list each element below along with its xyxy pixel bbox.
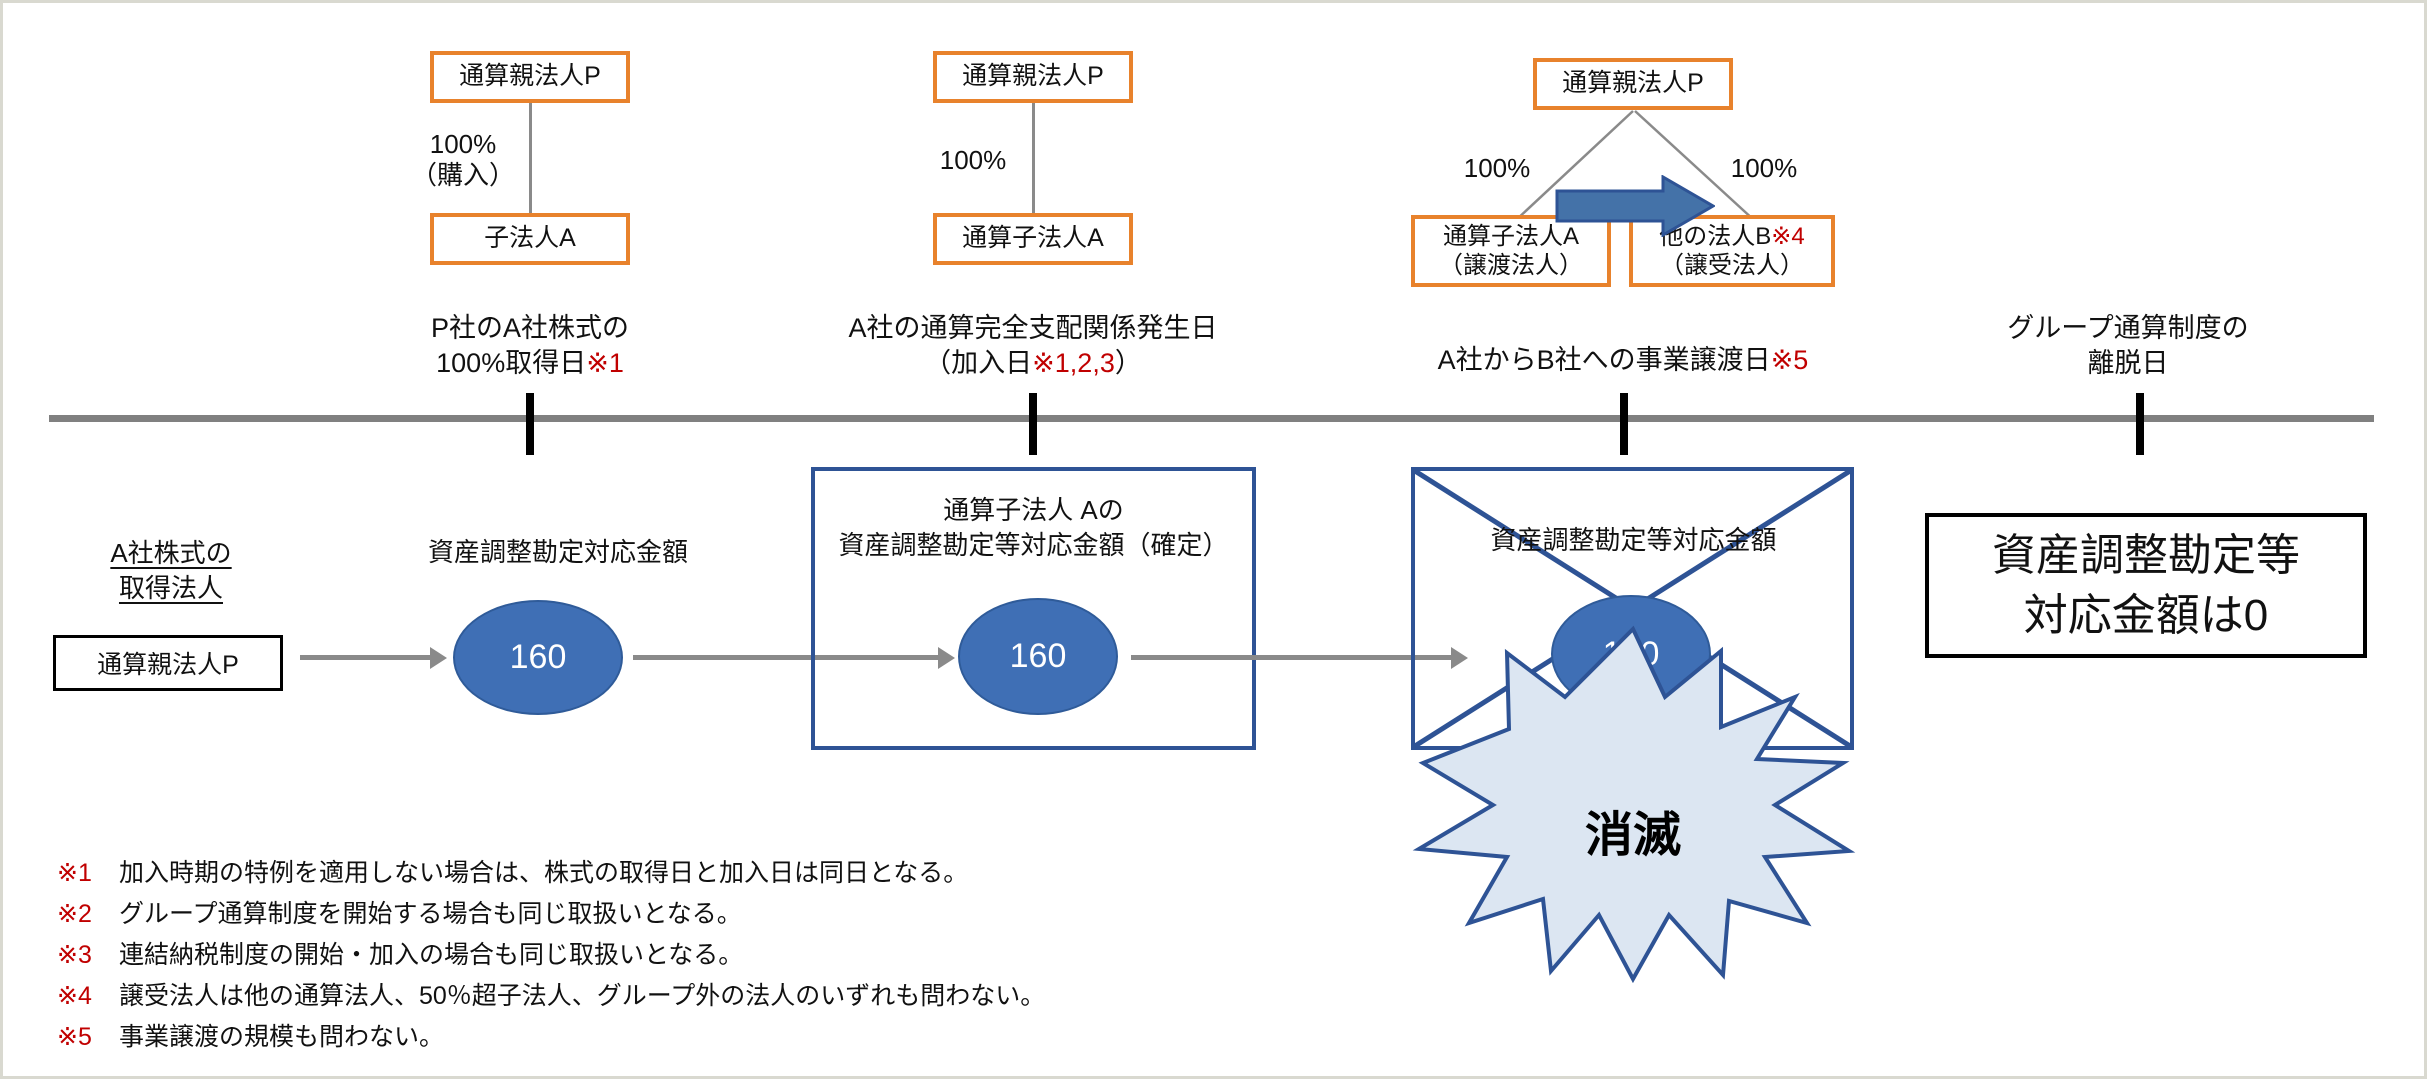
business-transfer-arrow-icon	[1555, 175, 1715, 237]
org-box-child-1-label: 子法人A	[484, 223, 576, 254]
footnote-mark: ※1	[57, 861, 119, 886]
ownership-pct-2-value: 100%	[940, 145, 1007, 175]
stage2-value: 160	[1010, 637, 1067, 676]
stage2-caption-line2: 資産調整勘定等対応金額（確定）	[815, 528, 1252, 563]
timeline-label-1: P社のA社株式の 100%取得日※1	[355, 311, 705, 381]
timeline-label-4: グループ通算制度の 離脱日	[1978, 311, 2278, 381]
org-box-child-3-left-line2: （譲渡法人）	[1439, 251, 1583, 280]
footnote-row: ※5 事業譲渡の規模も問わない。	[57, 1025, 1757, 1050]
org-box-parent-1: 通算親法人P	[430, 51, 630, 103]
timeline-label-2-note: ※1,2,3	[1032, 348, 1115, 378]
footnote-mark: ※2	[57, 902, 119, 927]
timeline-axis	[49, 415, 2374, 422]
flow-arrow-1	[300, 655, 430, 660]
acquirer-box: 通算親法人P	[53, 635, 283, 691]
timeline-label-4-line2: 離脱日	[1978, 346, 2278, 381]
acquirer-caption-line2: 取得法人	[61, 571, 281, 606]
footnote-mark: ※4	[57, 984, 119, 1009]
acquirer-caption: A社株式の 取得法人	[61, 536, 281, 606]
org-box-parent-3-label: 通算親法人P	[1562, 68, 1704, 99]
org-box-child-3-right-note: ※4	[1771, 223, 1804, 250]
stage1-caption-text: 資産調整勘定対応金額	[428, 537, 688, 567]
timeline-label-2-tail: ）	[1115, 348, 1142, 378]
stage3-burst-label: 消滅	[1403, 795, 1863, 865]
acquirer-box-label: 通算親法人P	[97, 645, 239, 681]
timeline-label-2-line2: （加入日※1,2,3）	[808, 346, 1258, 381]
footnote-mark: ※5	[57, 1025, 119, 1050]
timeline-tick-4	[2136, 393, 2144, 455]
stage1-caption: 資産調整勘定対応金額	[388, 535, 728, 570]
stage3-caption: 資産調整勘定等対応金額	[1415, 523, 1852, 558]
stage2-ellipse: 160	[958, 598, 1118, 715]
timeline-tick-3	[1620, 393, 1628, 455]
stage4-box: 資産調整勘定等 対応金額は0	[1925, 513, 2367, 658]
stage3-burst: 消滅	[1403, 623, 1863, 983]
footnote-text: グループ通算制度を開始する場合も同じ取扱いとなる。	[119, 902, 742, 927]
timeline-tick-2	[1029, 393, 1037, 455]
stage1-value: 160	[510, 638, 567, 677]
org-box-parent-2-label: 通算親法人P	[962, 61, 1104, 92]
timeline-label-1-main: 100%取得日	[436, 348, 586, 378]
ownership-line-1	[529, 103, 532, 213]
footnote-text: 加入時期の特例を適用しない場合は、株式の取得日と加入日は同日となる。	[119, 861, 968, 886]
timeline-label-1-line1: P社のA社株式の	[355, 311, 705, 346]
org-box-child-2-label: 通算子法人A	[962, 223, 1104, 254]
ownership-pct-3-left-value: 100%	[1464, 153, 1531, 183]
org-box-child-1: 子法人A	[430, 213, 630, 265]
stage4-line2: 対応金額は0	[2024, 586, 2268, 645]
timeline-label-1-line2: 100%取得日※1	[355, 346, 705, 381]
timeline-label-3: A社からB社への事業譲渡日※5	[1393, 343, 1853, 378]
timeline-label-1-note: ※1	[586, 348, 624, 378]
stage1-ellipse: 160	[453, 600, 623, 715]
ownership-pct-1-value: 100%	[403, 129, 523, 160]
footnote-row: ※4 譲受法人は他の通算法人、50％超子法人、グループ外の法人のいずれも問わない…	[57, 984, 1757, 1009]
ownership-pct-3-right-value: 100%	[1731, 153, 1798, 183]
stage2-caption: 通算子法人 Aの 資産調整勘定等対応金額（確定）	[815, 493, 1252, 563]
ownership-pct-2: 100%	[928, 145, 1018, 176]
org-box-parent-2: 通算親法人P	[933, 51, 1133, 103]
diagram-canvas: 通算親法人P 100% （購入） 子法人A 通算親法人P 100% 通算子法人A…	[0, 0, 2427, 1079]
footnote-text: 事業譲渡の規模も問わない。	[119, 1025, 444, 1050]
stage3-caption-text: 資産調整勘定等対応金額	[1490, 525, 1776, 555]
stage4-line1: 資産調整勘定等	[1992, 526, 2300, 585]
org-box-parent-1-label: 通算親法人P	[459, 61, 601, 92]
timeline-tick-1	[526, 393, 534, 455]
ownership-line-2	[1032, 103, 1035, 213]
flow-arrow-1-head	[430, 647, 447, 669]
timeline-label-4-line1: グループ通算制度の	[1978, 311, 2278, 346]
ownership-pct-3-left: 100%	[1452, 153, 1542, 184]
timeline-label-2-line1: A社の通算完全支配関係発生日	[808, 311, 1258, 346]
ownership-pct-3-right: 100%	[1719, 153, 1809, 184]
timeline-label-2-main: （加入日	[924, 348, 1032, 378]
org-box-child-2: 通算子法人A	[933, 213, 1133, 265]
timeline-label-3-line1: A社からB社への事業譲渡日※5	[1393, 343, 1853, 378]
footnote-text: 譲受法人は他の通算法人、50％超子法人、グループ外の法人のいずれも問わない。	[119, 984, 1045, 1009]
acquirer-caption-line1: A社株式の	[61, 536, 281, 571]
timeline-label-3-note: ※5	[1771, 345, 1809, 375]
org-box-child-3-right-line2: （譲受法人）	[1660, 251, 1804, 280]
footnote-text: 連結納税制度の開始・加入の場合も同じ取扱いとなる。	[119, 943, 743, 968]
stage2-caption-line1: 通算子法人 Aの	[815, 493, 1252, 528]
ownership-pct-1: 100% （購入）	[403, 129, 523, 191]
timeline-label-2: A社の通算完全支配関係発生日 （加入日※1,2,3）	[808, 311, 1258, 381]
timeline-label-3-main: A社からB社への事業譲渡日	[1438, 345, 1771, 375]
ownership-pct-1-note: （購入）	[403, 160, 523, 191]
footnote-mark: ※3	[57, 943, 119, 968]
